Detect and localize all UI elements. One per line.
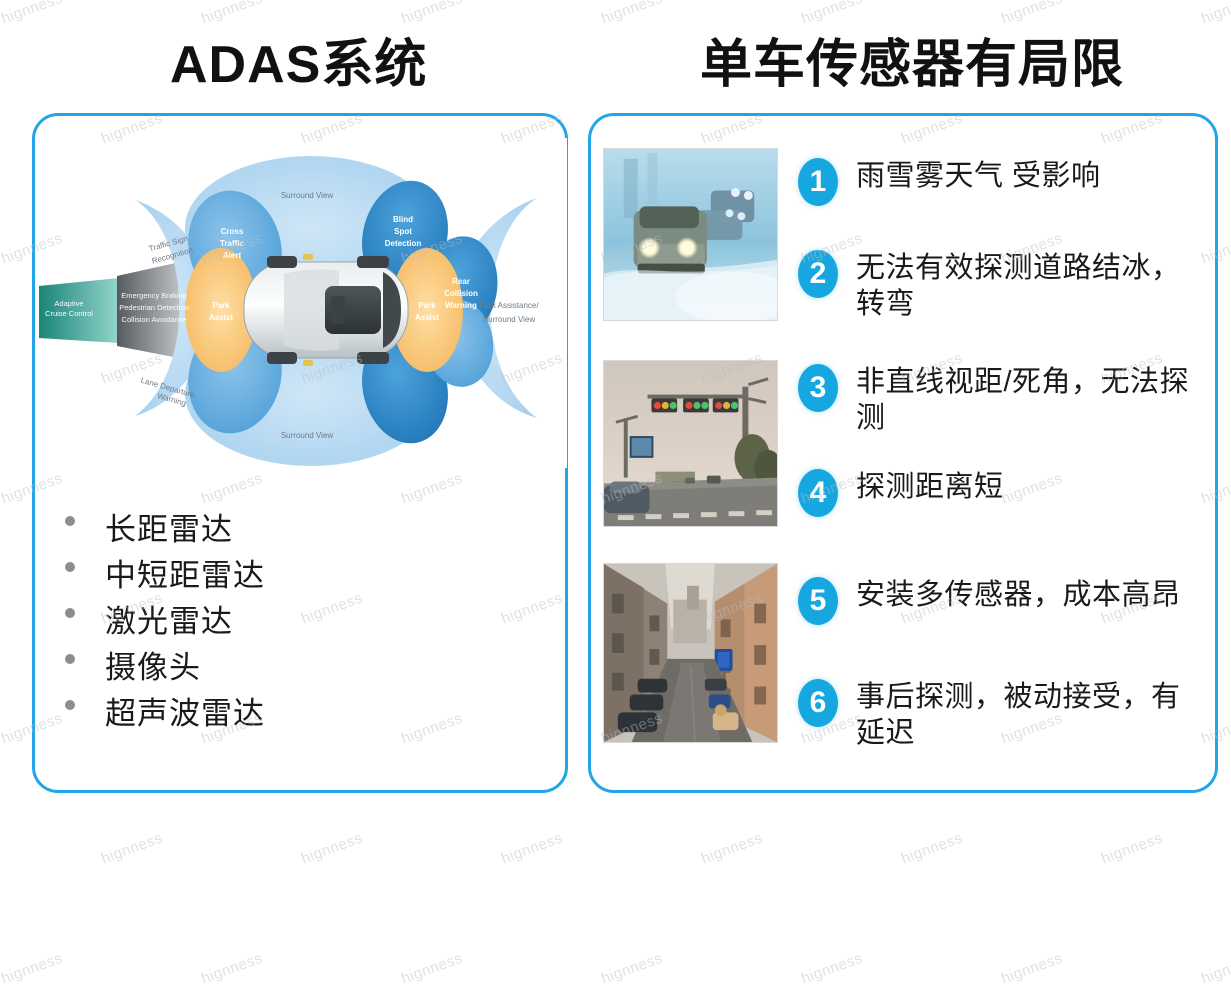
list-item: 超声波雷达 [65,690,545,736]
bullet-icon [65,516,75,526]
watermark-text: hignness [299,830,365,868]
svg-text:Emergency Braking: Emergency Braking [121,291,186,300]
limitation-text: 探测距离短 [856,469,1004,505]
limitation-text: 安装多传感器，成本高昂 [856,577,1181,613]
number-badge-4: 4 [798,469,838,517]
svg-text:Traffic: Traffic [220,239,245,248]
svg-text:Assist: Assist [415,313,439,322]
watermark-text: hignness [399,950,465,987]
svg-text:Collision: Collision [444,289,478,298]
adas-sensor-coverage-diagram: Adaptive Cruise Control Emergency Brakin… [39,138,567,468]
page-title-left: ADAS系统 [170,22,427,97]
list-item: 2 无法有效探测道路结冰，转弯 [798,250,1206,323]
sensor-label: 长距雷达 [105,514,233,545]
watermark-text: hignness [99,830,165,868]
single-vehicle-limits-panel: 1 雨雪雾天气 受影响 2 无法有效探测道路结冰，转弯 [588,113,1218,793]
adas-system-panel: Adaptive Cruise Control Emergency Brakin… [32,113,568,793]
list-item: 长距雷达 [65,506,545,552]
bullet-icon [65,562,75,572]
sensor-list: 长距雷达 中短距雷达 激光雷达 摄像头 超声波雷达 [65,506,545,736]
list-item: 4 探测距离短 [798,469,1206,517]
sensor-label: 摄像头 [105,652,201,683]
list-item: 摄像头 [65,644,545,690]
limitation-text: 非直线视距/死角，无法探测 [856,364,1206,437]
watermark-text: hignness [0,950,65,987]
svg-text:Blind: Blind [393,215,413,224]
limitation-items: 3 非直线视距/死角，无法探测 4 探测距离短 [798,360,1206,527]
limitation-text: 事后探测，被动接受，有延迟 [856,679,1206,752]
watermark-text: hignness [1099,830,1165,868]
limitation-text: 无法有效探测道路结冰，转弯 [856,250,1206,323]
list-item: 1 雨雪雾天气 受影响 [798,158,1206,206]
number-badge-3: 3 [798,364,838,412]
svg-text:Alert: Alert [223,251,242,260]
svg-text:Park: Park [212,301,230,310]
watermark-text: hignness [999,950,1065,987]
list-item: 5 安装多传感器，成本高昂 [798,577,1206,625]
watermark-text: hignness [0,0,65,27]
number-badge-1: 1 [798,158,838,206]
svg-text:Collision Avoidance: Collision Avoidance [122,315,187,324]
limitation-group: 1 雨雪雾天气 受影响 2 无法有效探测道路结冰，转弯 [603,148,1206,323]
svg-text:Assist: Assist [209,313,233,322]
svg-text:Pedestrian Detection: Pedestrian Detection [119,303,189,312]
watermark-text: hignness [199,950,265,987]
bullet-icon [65,700,75,710]
sensor-label: 激光雷达 [105,606,233,637]
page-title-right: 单车传感器有局限 [700,22,1124,97]
limitation-group: 5 安装多传感器，成本高昂 6 事后探测，被动接受，有延迟 [603,563,1206,752]
snowy-road-cars-photo [603,148,778,321]
narrow-city-street-photo [603,563,778,743]
svg-text:Surround View: Surround View [483,315,536,324]
limitation-text: 雨雪雾天气 受影响 [856,158,1101,194]
svg-text:Cruise Control: Cruise Control [45,309,93,318]
watermark-text: hignness [899,830,965,868]
svg-text:Park Assistance/: Park Assistance/ [479,301,539,310]
watermark-text: hignness [1199,0,1231,27]
svg-text:Warning: Warning [445,301,477,310]
svg-text:Cross: Cross [221,227,244,236]
svg-text:Surround View: Surround View [281,191,334,200]
list-item: 6 事后探测，被动接受，有延迟 [798,679,1206,752]
watermark-text: hignness [699,830,765,868]
intersection-traffic-lights-photo [603,360,778,527]
watermark-text: hignness [599,0,665,27]
list-item: 激光雷达 [65,598,545,644]
number-badge-2: 2 [798,250,838,298]
svg-text:Surround View: Surround View [281,431,334,440]
svg-text:Adaptive: Adaptive [54,299,83,308]
svg-text:Detection: Detection [385,239,422,248]
limitation-items: 5 安装多传感器，成本高昂 6 事后探测，被动接受，有延迟 [798,563,1206,752]
limitation-group: 3 非直线视距/死角，无法探测 4 探测距离短 [603,360,1206,527]
number-badge-6: 6 [798,679,838,727]
watermark-text: hignness [1199,950,1231,987]
watermark-text: hignness [599,950,665,987]
list-item: 3 非直线视距/死角，无法探测 [798,364,1206,437]
list-item: 中短距雷达 [65,552,545,598]
limitation-items: 1 雨雪雾天气 受影响 2 无法有效探测道路结冰，转弯 [798,148,1206,323]
watermark-text: hignness [499,830,565,868]
bullet-icon [65,608,75,618]
sensor-label: 中短距雷达 [105,560,265,591]
number-badge-5: 5 [798,577,838,625]
svg-text:Spot: Spot [394,227,412,236]
watermark-text: hignness [799,950,865,987]
bullet-icon [65,654,75,664]
sensor-label: 超声波雷达 [105,698,265,729]
svg-text:Park: Park [418,301,436,310]
svg-text:Rear: Rear [452,277,470,286]
